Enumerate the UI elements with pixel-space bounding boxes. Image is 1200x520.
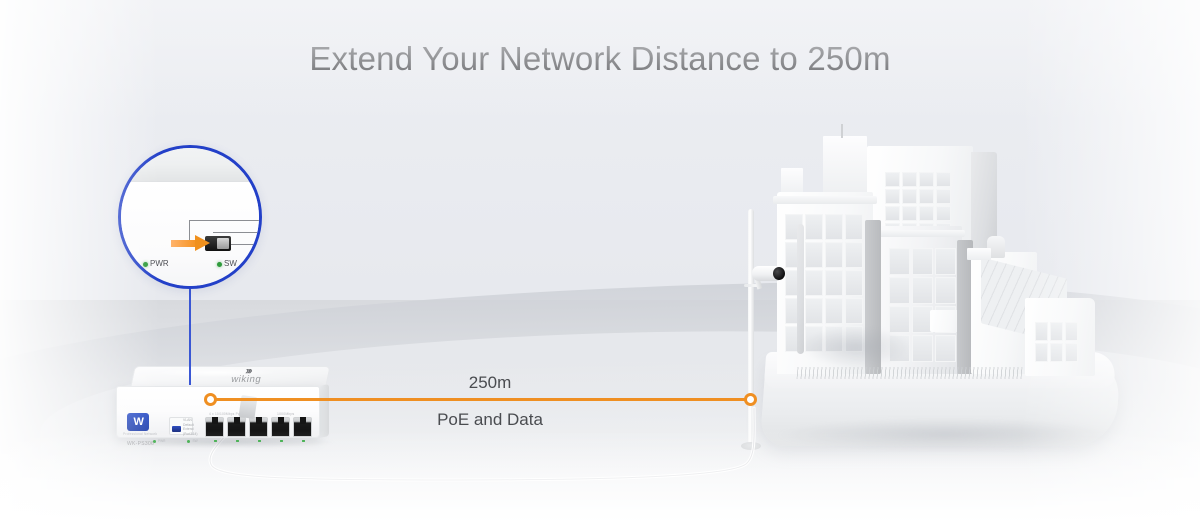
- closeup-vlan-slider-knob: [217, 238, 229, 249]
- ports-label-right: 1000Mbps: [277, 412, 294, 416]
- link-line: [212, 398, 752, 401]
- switch-top-gloss: [155, 368, 277, 377]
- link-distance-label: 250m: [400, 373, 580, 393]
- magnifier-stem: [189, 289, 191, 385]
- camera-lens-icon: [773, 267, 785, 280]
- closeup-sw-led-label: SW: [224, 259, 237, 268]
- camera-pole: [748, 209, 754, 449]
- illustration-canvas: ››› wiking W Professional Network WK-PS3…: [0, 0, 1200, 520]
- link-endpoint-camera: [744, 393, 757, 406]
- vignette-bottom: [0, 430, 1200, 520]
- building-left-cornice: [773, 196, 877, 204]
- link-type-label: PoE and Data: [390, 410, 590, 430]
- building-cast-shadow: [801, 326, 911, 368]
- closeup-sw-led-icon: [217, 262, 222, 267]
- rooftop-ac-unit: [967, 248, 991, 260]
- link-endpoint-switch: [204, 393, 217, 406]
- plaza-fence: [797, 367, 1023, 379]
- callout-leader-default: [213, 232, 261, 233]
- pointer-arrow-icon: [171, 236, 209, 250]
- callout-leader-vlan: [189, 220, 261, 221]
- building-middle-cornice: [877, 230, 965, 237]
- security-camera: [752, 266, 786, 282]
- rooftop-antenna: [841, 124, 843, 138]
